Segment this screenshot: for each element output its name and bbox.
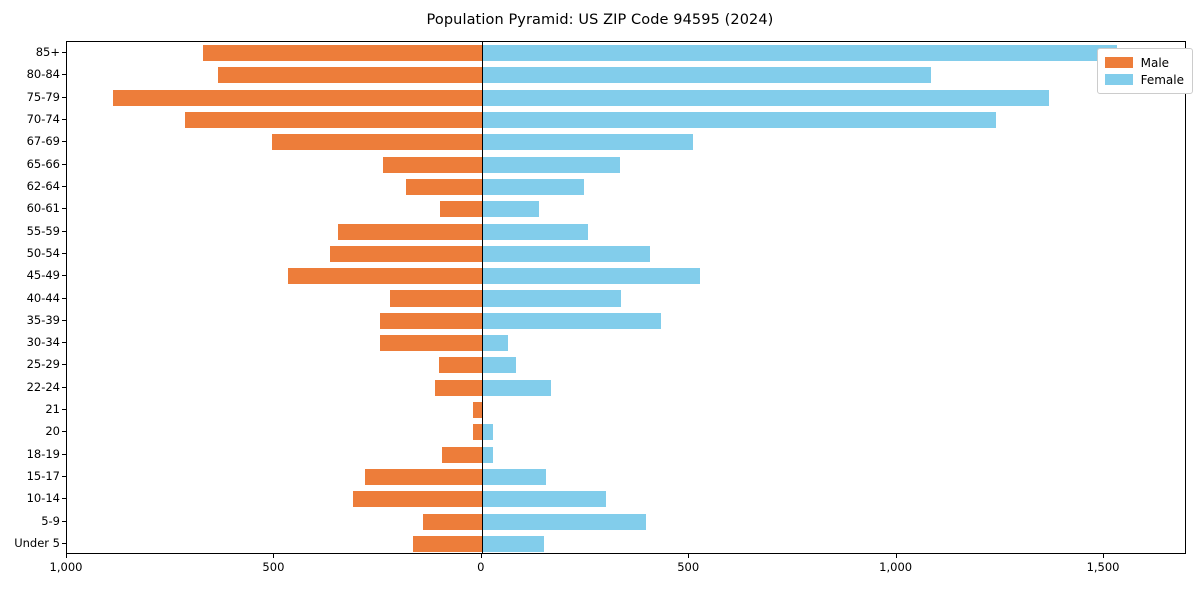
bar-female xyxy=(482,536,544,552)
zero-axis-line xyxy=(482,42,483,553)
y-tick-label: 21 xyxy=(45,402,60,416)
bar-female xyxy=(482,335,508,351)
bar-female xyxy=(482,134,693,150)
bar-female xyxy=(482,380,551,396)
chart-title: Population Pyramid: US ZIP Code 94595 (2… xyxy=(0,12,1200,28)
x-tick-mark xyxy=(688,554,689,558)
x-tick-label: 0 xyxy=(477,560,484,574)
bar-row xyxy=(67,179,1185,195)
y-tick-label: 70-74 xyxy=(27,112,60,126)
y-tick-label: 30-34 xyxy=(27,335,60,349)
bar-male xyxy=(353,491,482,507)
bar-male xyxy=(439,357,482,373)
bar-female xyxy=(482,224,588,240)
y-axis-labels: 85+80-8475-7970-7467-6965-6662-6460-6155… xyxy=(0,41,60,554)
bar-male xyxy=(473,424,482,440)
bar-male xyxy=(423,514,482,530)
bar-row xyxy=(67,268,1185,284)
bar-row xyxy=(67,424,1185,440)
bar-male xyxy=(185,112,482,128)
y-tick-label: 67-69 xyxy=(27,134,60,148)
bar-female xyxy=(482,514,646,530)
bar-male xyxy=(380,335,482,351)
bar-male xyxy=(406,179,481,195)
bar-female xyxy=(482,447,493,463)
bar-male xyxy=(218,67,482,83)
bar-row xyxy=(67,45,1185,61)
bar-male xyxy=(413,536,482,552)
y-tick-label: 10-14 xyxy=(27,491,60,505)
y-tick-label: 65-66 xyxy=(27,157,60,171)
bar-row xyxy=(67,290,1185,306)
bar-female xyxy=(482,357,516,373)
x-tick-label: 500 xyxy=(677,560,699,574)
bar-row xyxy=(67,67,1185,83)
bar-male xyxy=(338,224,482,240)
bar-male xyxy=(380,313,482,329)
bar-male xyxy=(365,469,482,485)
legend-swatch-icon xyxy=(1105,57,1133,68)
y-tick-label: 85+ xyxy=(36,45,60,59)
bar-male xyxy=(288,268,482,284)
x-tick-mark xyxy=(1103,554,1104,558)
bars-layer xyxy=(67,42,1185,553)
bar-female xyxy=(482,469,546,485)
bar-row xyxy=(67,402,1185,418)
y-tick-label: 50-54 xyxy=(27,246,60,260)
bar-male xyxy=(113,90,481,106)
y-tick-label: 35-39 xyxy=(27,313,60,327)
bar-female xyxy=(482,491,606,507)
bar-male xyxy=(272,134,481,150)
x-tick-mark xyxy=(66,554,67,558)
chart-legend: MaleFemale xyxy=(1097,48,1193,94)
bar-male xyxy=(440,201,481,217)
bar-row xyxy=(67,491,1185,507)
y-tick-label: 20 xyxy=(45,424,60,438)
bar-row xyxy=(67,447,1185,463)
bar-row xyxy=(67,112,1185,128)
population-pyramid-figure: Population Pyramid: US ZIP Code 94595 (2… xyxy=(0,0,1200,600)
x-tick-mark xyxy=(481,554,482,558)
legend-label: Female xyxy=(1141,73,1184,87)
bar-female xyxy=(482,268,700,284)
bar-male xyxy=(203,45,482,61)
legend-entry-female[interactable]: Female xyxy=(1105,71,1184,88)
bar-row xyxy=(67,536,1185,552)
y-tick-label: 60-61 xyxy=(27,201,60,215)
bar-row xyxy=(67,469,1185,485)
bar-row xyxy=(67,157,1185,173)
bar-female xyxy=(482,67,932,83)
legend-label: Male xyxy=(1141,56,1169,70)
bar-row xyxy=(67,357,1185,373)
x-tick-label: 1,000 xyxy=(879,560,912,574)
bar-row xyxy=(67,335,1185,351)
bar-female xyxy=(482,179,584,195)
y-tick-label: 40-44 xyxy=(27,291,60,305)
y-tick-label: 75-79 xyxy=(27,90,60,104)
y-tick-label: Under 5 xyxy=(14,536,60,550)
bar-male xyxy=(390,290,482,306)
plot-area xyxy=(66,41,1186,554)
bar-female xyxy=(482,424,493,440)
bar-row xyxy=(67,224,1185,240)
x-tick-label: 1,500 xyxy=(1087,560,1120,574)
bar-row xyxy=(67,134,1185,150)
legend-swatch-icon xyxy=(1105,74,1133,85)
bar-female xyxy=(482,90,1049,106)
y-tick-label: 18-19 xyxy=(27,447,60,461)
y-tick-label: 62-64 xyxy=(27,179,60,193)
bar-row xyxy=(67,90,1185,106)
bar-male xyxy=(435,380,482,396)
y-tick-label: 22-24 xyxy=(27,380,60,394)
bar-row xyxy=(67,380,1185,396)
y-tick-label: 25-29 xyxy=(27,357,60,371)
x-tick-label: 1,000 xyxy=(50,560,83,574)
bar-female xyxy=(482,313,662,329)
bar-female xyxy=(482,157,620,173)
y-tick-label: 45-49 xyxy=(27,268,60,282)
bar-male xyxy=(330,246,482,262)
bar-female xyxy=(482,290,621,306)
x-axis: 1,00050005001,0001,500 xyxy=(66,554,1186,584)
bar-male xyxy=(442,447,482,463)
x-tick-label: 500 xyxy=(262,560,284,574)
bar-female xyxy=(482,112,996,128)
bar-row xyxy=(67,313,1185,329)
y-tick-label: 55-59 xyxy=(27,224,60,238)
bar-row xyxy=(67,514,1185,530)
legend-entry-male[interactable]: Male xyxy=(1105,54,1184,71)
y-tick-label: 80-84 xyxy=(27,67,60,81)
bar-female xyxy=(482,201,539,217)
x-tick-mark xyxy=(273,554,274,558)
bar-row xyxy=(67,246,1185,262)
bar-male xyxy=(383,157,482,173)
bar-male xyxy=(473,402,482,418)
bar-female xyxy=(482,246,650,262)
y-tick-label: 15-17 xyxy=(27,469,60,483)
bar-female xyxy=(482,45,1117,61)
y-tick-label: 5-9 xyxy=(41,514,60,528)
x-tick-mark xyxy=(896,554,897,558)
bar-row xyxy=(67,201,1185,217)
